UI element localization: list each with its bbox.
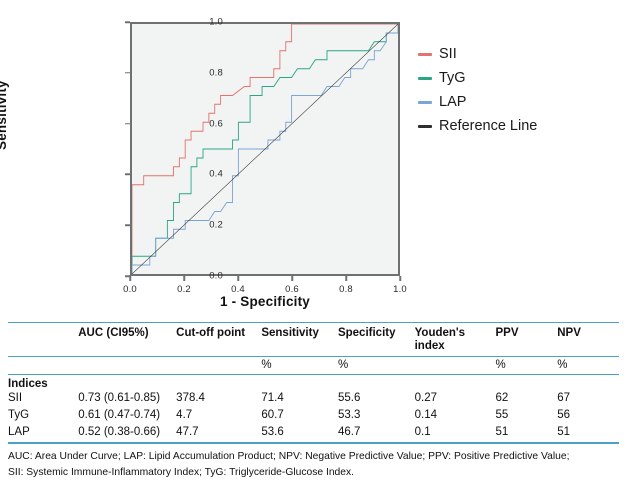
statistics-table: AUC (CI95%) Cut-off point Sensitivity Sp…: [8, 322, 619, 444]
row-cutoff: 47.7: [176, 424, 261, 442]
plot-inner: [132, 24, 398, 274]
col-header-specificity: Specificity: [338, 323, 415, 357]
row-name: SII: [8, 390, 78, 407]
y-tick-mark: [125, 123, 130, 125]
y-tick-label: 0.6: [209, 118, 223, 129]
row-specificity: 46.7: [338, 424, 415, 442]
table-row: TyG 0.61 (0.47-0.74) 4.7 60.7 53.3 0.14 …: [8, 407, 619, 424]
unit-specificity: %: [338, 356, 415, 374]
unit-ppv: %: [496, 356, 558, 374]
y-tick-label: 1.0: [209, 17, 223, 28]
x-tick-mark: [291, 276, 293, 281]
legend-label: TyG: [439, 71, 466, 86]
legend-item-lap[interactable]: LAP: [418, 90, 623, 114]
col-header-npv: NPV: [557, 323, 619, 357]
unit-npv: %: [557, 356, 619, 374]
group-label-indices: Indices: [8, 374, 619, 390]
table-row: LAP 0.52 (0.38-0.66) 47.7 53.6 46.7 0.1 …: [8, 424, 619, 442]
x-tick-mark: [183, 276, 185, 281]
row-ppv: 62: [496, 390, 558, 407]
row-sensitivity: 71.4: [261, 390, 338, 407]
y-tick-mark: [125, 174, 130, 176]
legend-item-reference-line[interactable]: Reference Line: [418, 114, 623, 138]
row-sensitivity: 60.7: [261, 407, 338, 424]
col-header-auc: AUC (CI95%): [78, 323, 176, 357]
legend-item-sii[interactable]: SII: [418, 42, 623, 66]
row-name: LAP: [8, 424, 78, 442]
y-tick-label: 0.8: [209, 67, 223, 78]
roc-curves-svg: [132, 24, 398, 274]
row-ppv: 51: [496, 424, 558, 442]
unit-youden: [415, 356, 496, 374]
row-youden: 0.14: [415, 407, 496, 424]
table-unit-row: % % % %: [8, 356, 619, 374]
unit-cutoff: [176, 356, 261, 374]
row-ppv: 55: [496, 407, 558, 424]
roc-curve-reference-line: [132, 24, 398, 274]
row-auc: 0.73 (0.61-0.85): [78, 390, 176, 407]
y-tick-mark: [125, 21, 130, 23]
row-npv: 51: [557, 424, 619, 442]
legend-label: LAP: [439, 95, 466, 110]
y-axis-label: Sensitivity: [0, 80, 9, 150]
y-tick-label: 0.0: [209, 271, 223, 282]
table-header-row: AUC (CI95%) Cut-off point Sensitivity Sp…: [8, 323, 619, 357]
legend-color-swatch: [418, 125, 432, 128]
table-group-row: Indices: [8, 374, 619, 390]
unit-auc: [78, 356, 176, 374]
legend-label: Reference Line: [439, 119, 537, 134]
table-row: SII 0.73 (0.61-0.85) 378.4 71.4 55.6 0.2…: [8, 390, 619, 407]
x-tick-mark: [399, 276, 401, 281]
col-header-ppv: PPV: [496, 323, 558, 357]
row-name: TyG: [8, 407, 78, 424]
y-tick-mark: [125, 72, 130, 74]
y-tick-mark: [125, 224, 130, 226]
statistics-table-wrapper: AUC (CI95%) Cut-off point Sensitivity Sp…: [8, 322, 619, 444]
col-header-index: [8, 323, 78, 357]
row-auc: 0.61 (0.47-0.74): [78, 407, 176, 424]
unit-sensitivity: %: [261, 356, 338, 374]
plot-area: [130, 22, 400, 276]
x-tick-mark: [129, 276, 131, 281]
row-sensitivity: 53.6: [261, 424, 338, 442]
y-tick-label: 0.2: [209, 220, 223, 231]
row-specificity: 55.6: [338, 390, 415, 407]
legend-item-tyg[interactable]: TyG: [418, 66, 623, 90]
legend-color-swatch: [418, 101, 432, 104]
legend-label: SII: [439, 47, 457, 62]
y-tick-label: 0.4: [209, 169, 223, 180]
x-axis-label: 1 - Specificity: [130, 294, 400, 309]
row-youden: 0.1: [415, 424, 496, 442]
col-header-youden: Youden's index: [415, 323, 496, 357]
row-npv: 67: [557, 390, 619, 407]
legend-color-swatch: [418, 53, 432, 56]
footnote-line-1: AUC: Area Under Curve; LAP: Lipid Accumu…: [8, 449, 622, 465]
row-cutoff: 4.7: [176, 407, 261, 424]
unit-index: [8, 356, 78, 374]
row-specificity: 53.3: [338, 407, 415, 424]
footnote-line-2: SII: Systemic Immune-Inflammatory Index;…: [8, 465, 622, 481]
legend-color-swatch: [418, 77, 432, 80]
row-youden: 0.27: [415, 390, 496, 407]
col-header-sensitivity: Sensitivity: [261, 323, 338, 357]
roc-figure: Sensitivity 0.00.20.40.60.81.0 0.00.20.4…: [0, 0, 627, 318]
row-cutoff: 378.4: [176, 390, 261, 407]
col-header-cutoff: Cut-off point: [176, 323, 261, 357]
row-auc: 0.52 (0.38-0.66): [78, 424, 176, 442]
x-tick-mark: [345, 276, 347, 281]
chart-legend: SIITyGLAPReference Line: [418, 42, 623, 138]
x-tick-mark: [237, 276, 239, 281]
table-footnote: AUC: Area Under Curve; LAP: Lipid Accumu…: [8, 449, 622, 481]
row-npv: 56: [557, 407, 619, 424]
